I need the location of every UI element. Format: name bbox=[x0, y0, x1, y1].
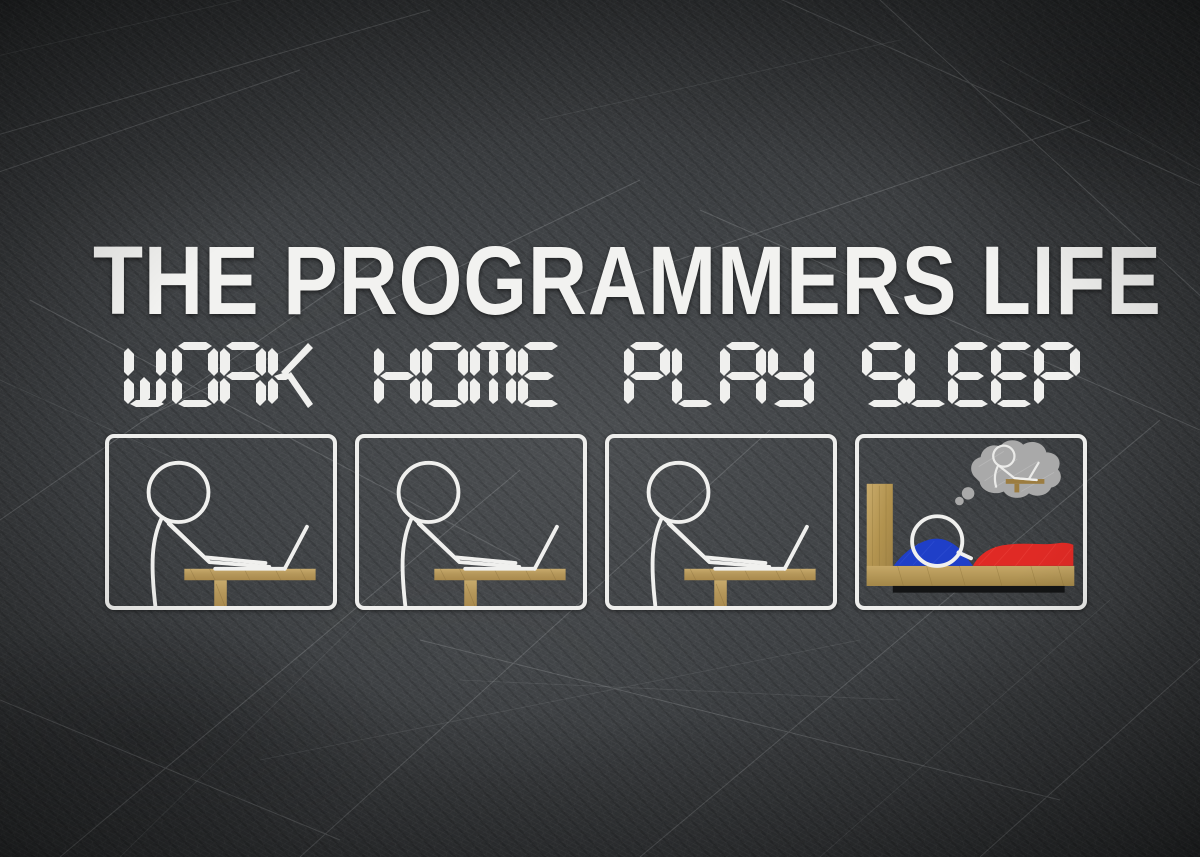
category-label-work bbox=[105, 342, 337, 408]
category-label-row bbox=[105, 342, 1090, 408]
poster-content: THE PROGRAMMERS LIFE bbox=[0, 0, 1200, 857]
stick-figure-icon bbox=[149, 463, 270, 606]
panel-play[interactable] bbox=[605, 434, 837, 610]
stick-figure-icon bbox=[399, 463, 520, 606]
category-label-play bbox=[605, 342, 837, 408]
bed-frame-icon bbox=[867, 484, 1075, 593]
panel-work[interactable] bbox=[105, 434, 337, 610]
desk-icon bbox=[434, 569, 565, 606]
panel-sleep[interactable] bbox=[855, 434, 1087, 610]
stick-figure-icon bbox=[649, 463, 770, 606]
blanket-icon bbox=[973, 543, 1073, 566]
page-title: THE PROGRAMMERS LIFE bbox=[93, 232, 1107, 329]
category-label-sleep bbox=[855, 342, 1087, 408]
panel-row bbox=[105, 434, 1090, 610]
desk-icon bbox=[684, 569, 815, 606]
poster-canvas: THE PROGRAMMERS LIFE bbox=[0, 0, 1200, 857]
desk-icon bbox=[184, 569, 315, 606]
thought-cloud-icon bbox=[955, 440, 1061, 505]
category-label-home bbox=[355, 342, 587, 408]
panel-home[interactable] bbox=[355, 434, 587, 610]
